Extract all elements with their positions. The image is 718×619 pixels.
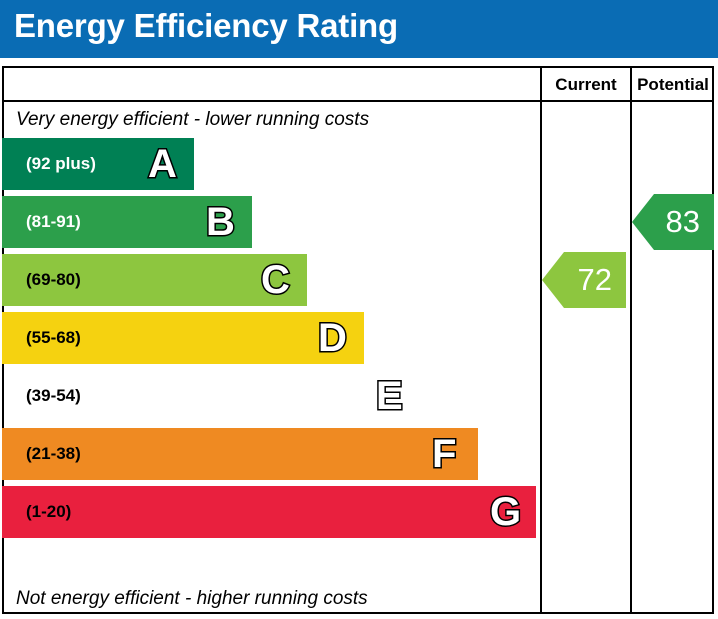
caption-top: Very energy efficient - lower running co… [16,109,369,131]
band-letter-d: D [318,318,347,358]
title-bar: Energy Efficiency Rating [0,0,718,58]
band-letter-b: B [206,202,235,242]
rating-band-d: (55-68) D [2,312,364,364]
band-letter-c: C [261,260,290,300]
column-header-current: Current [542,73,630,97]
band-range-a: (92 plus) [26,138,96,190]
band-letter-a: A [148,144,177,184]
band-range-d: (55-68) [26,312,81,364]
rating-band-a: (92 plus) A [2,138,194,190]
caption-bottom: Not energy efficient - higher running co… [16,588,368,610]
rating-band-c: (69-80) C [2,254,307,306]
band-letter-e: E [376,376,403,416]
potential-rating-value: 83 [666,194,700,250]
rating-band-g: (1-20) G [2,486,536,538]
current-rating-value: 72 [578,252,612,308]
header-row-separator [2,100,714,102]
rating-band-e: (39-54) E [2,370,422,422]
column-divider-potential [630,66,632,614]
rating-band-f: (21-38) F [2,428,478,480]
band-range-e: (39-54) [26,370,81,422]
rating-band-b: (81-91) B [2,196,252,248]
band-range-f: (21-38) [26,428,81,480]
column-divider-current [540,66,542,614]
page-title: Energy Efficiency Rating [14,7,398,45]
band-letter-g: G [490,492,521,532]
band-range-g: (1-20) [26,486,71,538]
band-range-b: (81-91) [26,196,81,248]
column-header-potential: Potential [632,73,714,97]
band-range-c: (69-80) [26,254,81,306]
epc-certificate: Energy Efficiency Rating Current Potenti… [0,0,718,619]
band-letter-f: F [432,434,456,474]
